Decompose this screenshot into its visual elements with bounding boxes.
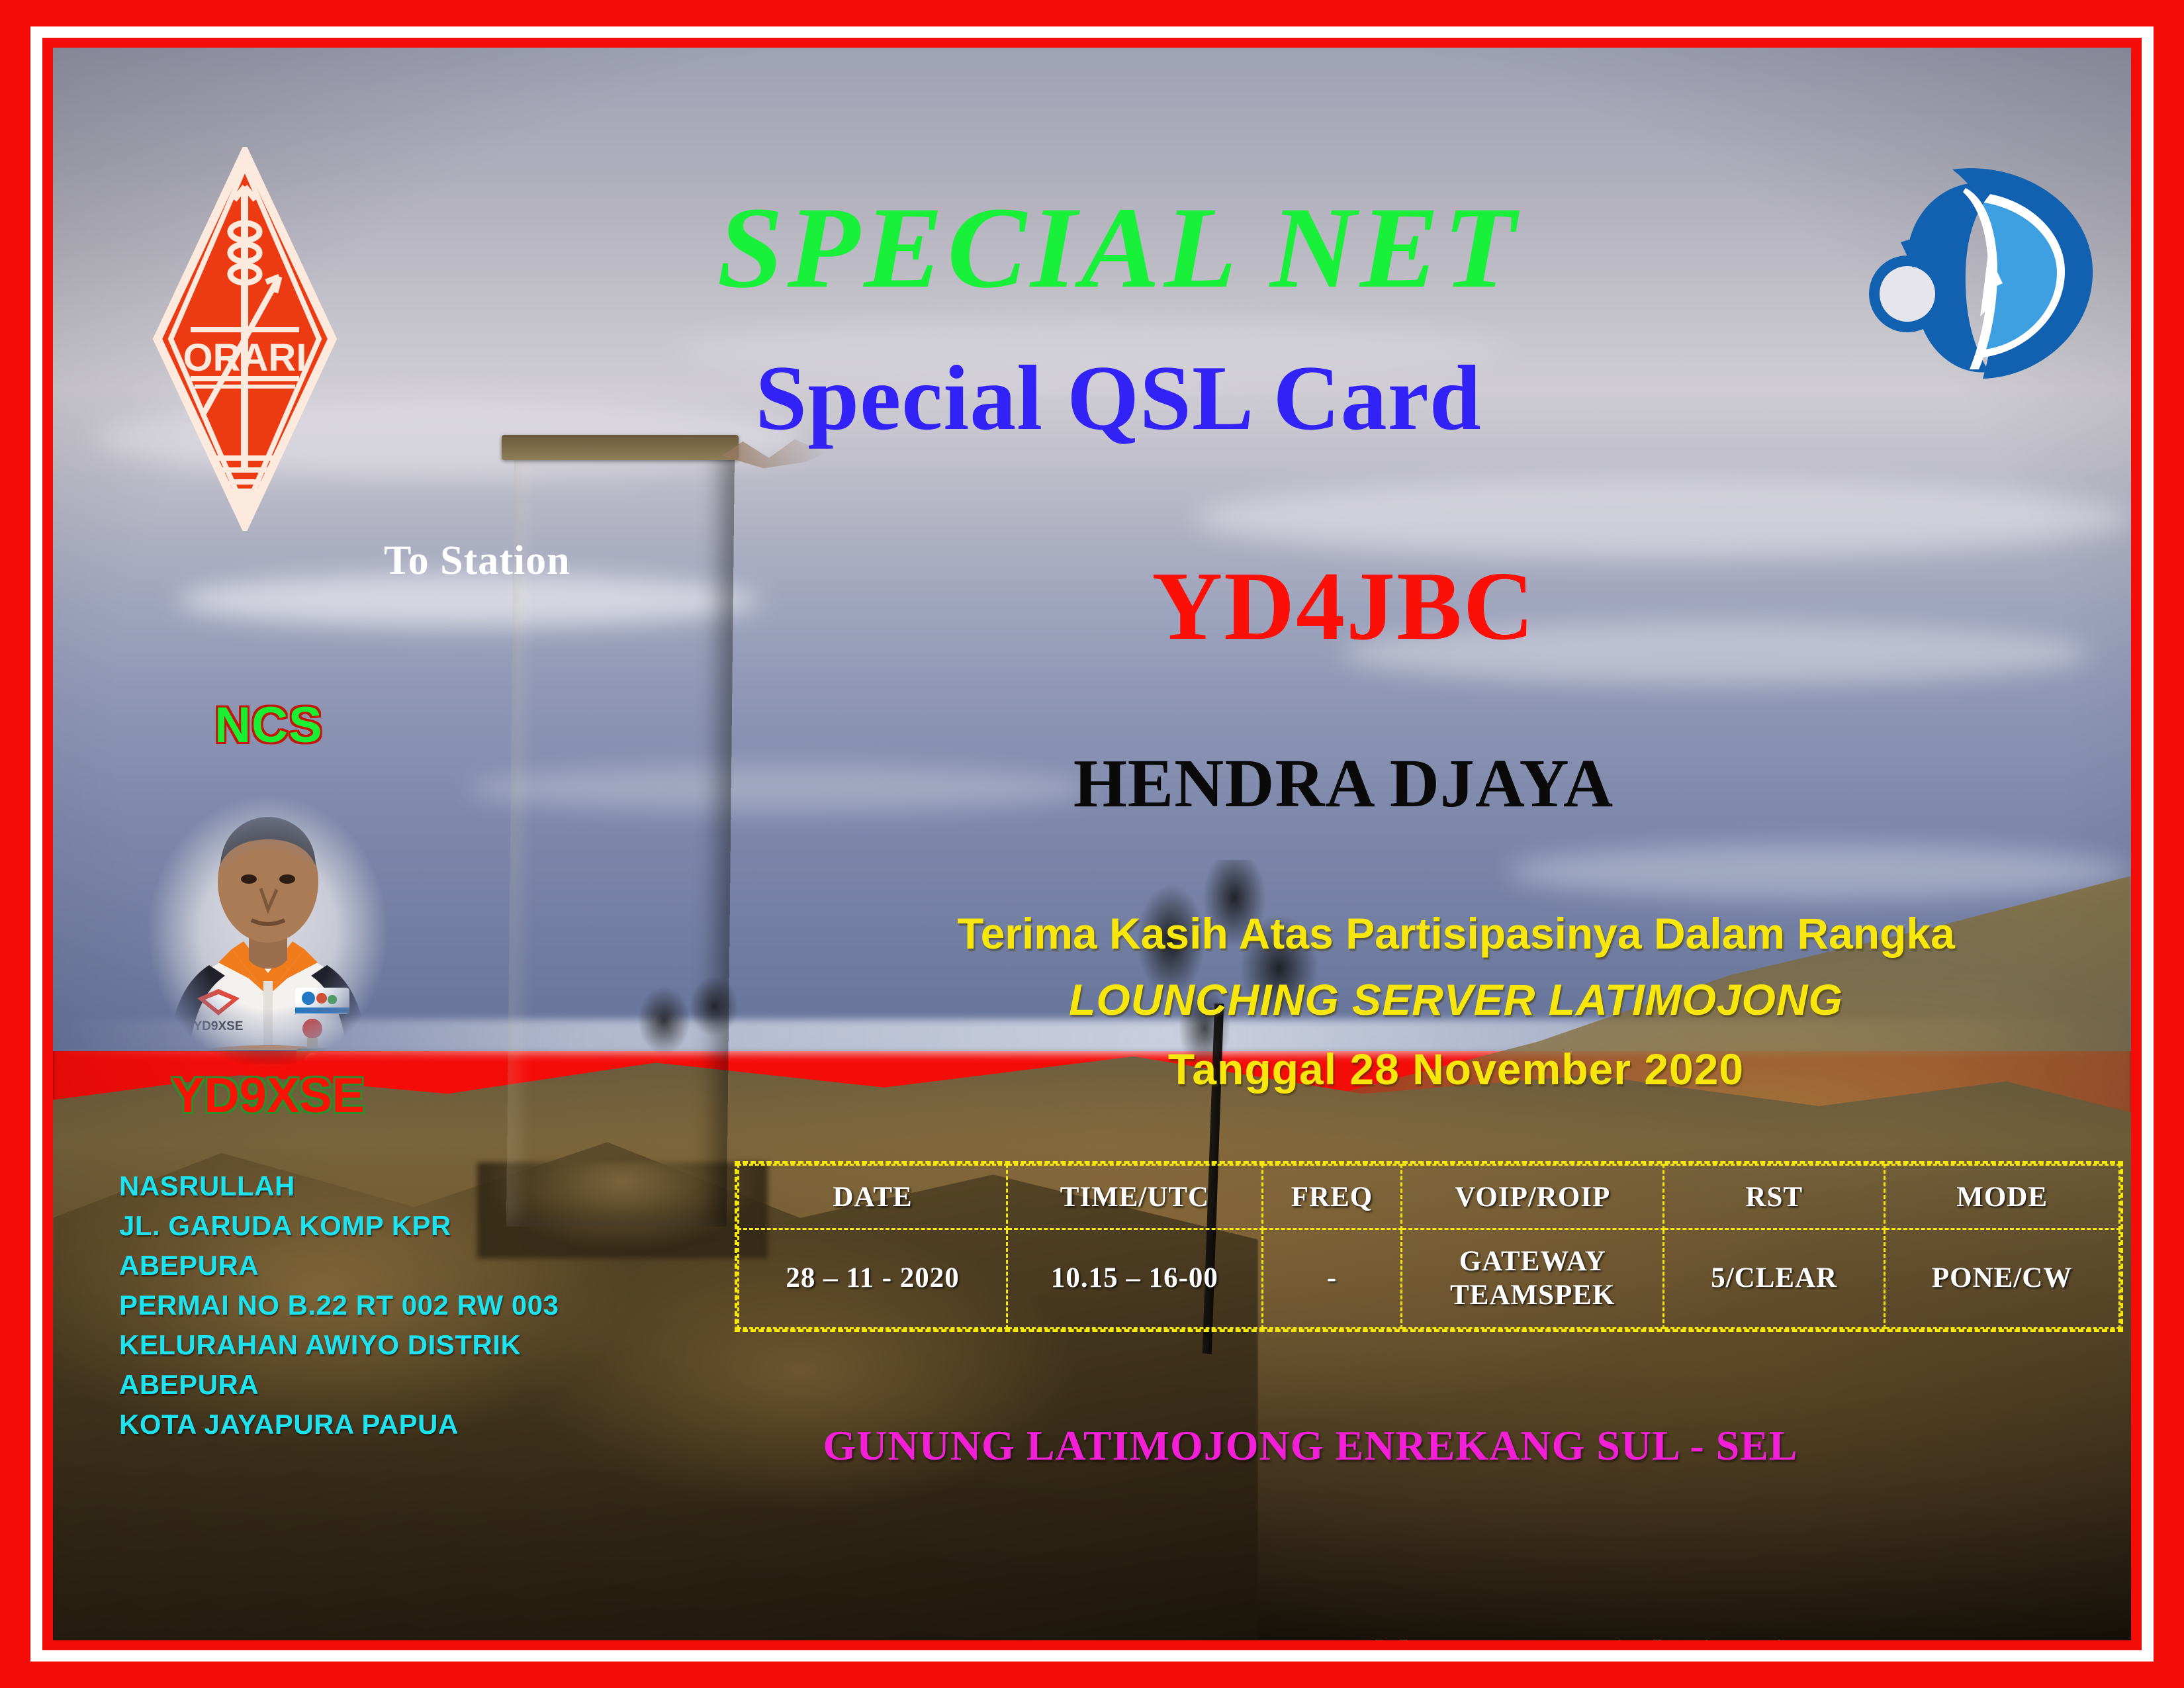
- motto-text: "AMATIR RADIO ADALAH PROGRESIVE": [132, 1631, 1035, 1640]
- event-name: LOUNCHING SERVER LATIMOJONG: [781, 974, 2131, 1025]
- card-photo-area: ORARI: [53, 48, 2131, 1640]
- cell-voip: GATEWAY TEAMSPEK: [1402, 1229, 1664, 1329]
- operator-name: HENDRA DJAYA: [913, 749, 1774, 818]
- address-line: KOTA JAYAPURA PAPUA: [119, 1405, 682, 1444]
- ncs-role-label: NCS: [183, 696, 355, 754]
- address-block: NASRULLAH JL. GARUDA KOMP KPR ABEPURA PE…: [119, 1166, 682, 1444]
- address-line: JL. GARUDA KOMP KPR: [119, 1206, 682, 1246]
- card-white-border: ORARI: [30, 26, 2154, 1662]
- page-subtitle: Special QSL Card: [477, 352, 1760, 445]
- cell-freq: -: [1262, 1229, 1402, 1329]
- radio-headset-logo: [1866, 154, 2105, 385]
- table-header-row: DATE TIME/UTC FREQ VOIP/ROIP RST MODE: [739, 1165, 2120, 1229]
- cell-voip-line1: GATEWAY: [1459, 1246, 1606, 1277]
- cell-time: 10.15 – 16-00: [1007, 1229, 1263, 1329]
- event-date-line: Tanggal 28 November 2020: [781, 1044, 2131, 1094]
- address-line: PERMAI NO B.22 RT 002 RW 003: [119, 1286, 682, 1325]
- address-line: ABEPURA: [119, 1365, 682, 1405]
- table-row: 28 – 11 - 2020 10.15 – 16-00 - GATEWAY T…: [739, 1229, 2120, 1329]
- cell-date: 28 – 11 - 2020: [739, 1229, 1007, 1329]
- page-title: SPECIAL NET: [464, 190, 1774, 306]
- svg-text:YD9XSE: YD9XSE: [194, 1019, 244, 1033]
- column-header-voip: VOIP/ROIP: [1402, 1165, 1664, 1229]
- column-header-freq: FREQ: [1262, 1165, 1402, 1229]
- cell-mode: PONE/CW: [1885, 1229, 2120, 1329]
- location-line: GUNUNG LATIMOJONG ENREKANG SUL - SEL: [702, 1421, 1919, 1470]
- orari-logo-text: ORARI: [183, 336, 307, 379]
- qsl-card: ORARI: [0, 0, 2184, 1688]
- column-header-rst: RST: [1664, 1165, 1885, 1229]
- avatar: YD9XSE: [119, 782, 417, 1080]
- operator-portrait: YD9XSE: [119, 782, 417, 1080]
- card-inner-red-border: ORARI: [42, 38, 2142, 1650]
- address-line: ABEPURA: [119, 1246, 682, 1286]
- address-line: NASRULLAH: [119, 1166, 682, 1206]
- ncs-callsign: YD9XSE: [119, 1067, 417, 1123]
- station-callsign: YD4JBC: [913, 557, 1774, 655]
- to-station-label: To Station: [384, 538, 570, 585]
- thanks-line: Terima Kasih Atas Partisipasinya Dalam R…: [781, 908, 2131, 959]
- cell-rst: 5/CLEAR: [1664, 1229, 1885, 1329]
- column-header-date: DATE: [739, 1165, 1007, 1229]
- orari-logo: ORARI: [152, 147, 338, 531]
- column-header-mode: MODE: [1885, 1165, 2120, 1229]
- web-address: Address : amatir.latimojong.com: [1330, 1631, 1942, 1640]
- cell-voip-line2: TEAMSPEK: [1450, 1280, 1615, 1311]
- column-header-time: TIME/UTC: [1007, 1165, 1263, 1229]
- address-line: KELURAHAN AWIYO DISTRIK: [119, 1325, 682, 1365]
- qso-log-table: DATE TIME/UTC FREQ VOIP/ROIP RST MODE 28…: [735, 1161, 2123, 1332]
